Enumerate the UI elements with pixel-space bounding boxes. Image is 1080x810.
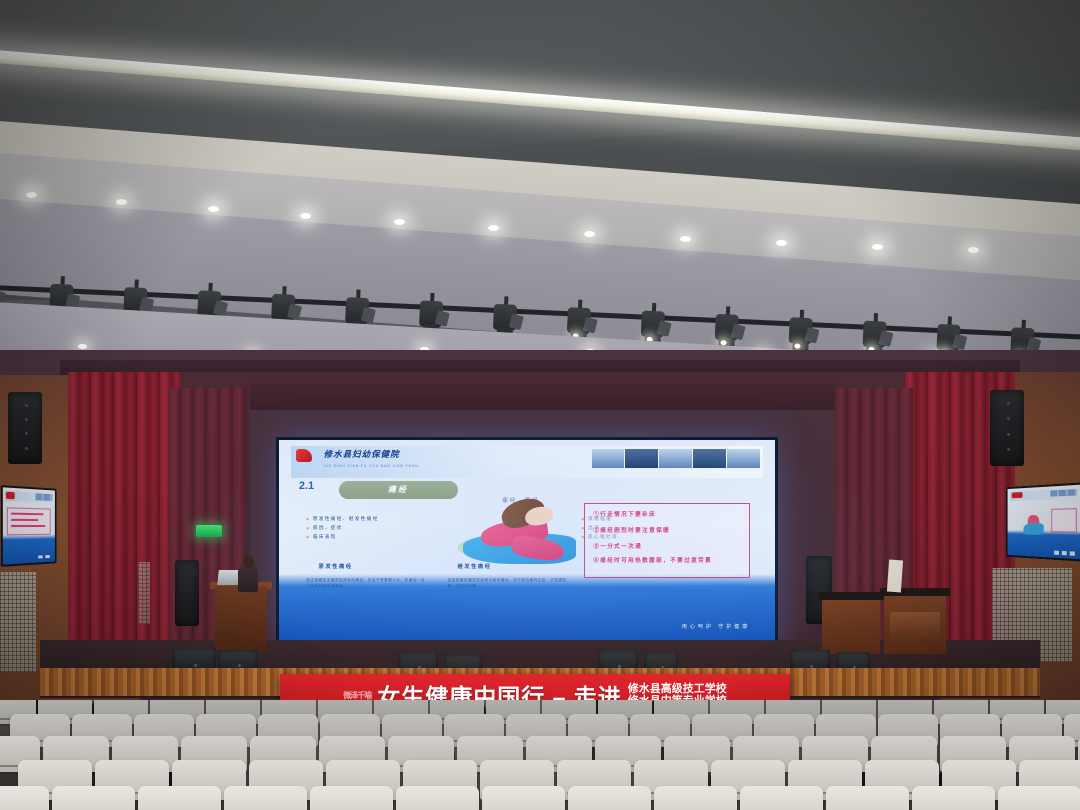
wall-speaker-right-icon — [990, 390, 1024, 466]
bullet-item: 临床表现 — [306, 533, 425, 542]
ceiling-downlight-icon — [26, 192, 37, 198]
recessed-light-icon — [78, 344, 87, 349]
slide-canvas: 修水县妇幼保健院 XIU SHUI XIAN FU YOU BAO JIAN Y… — [279, 440, 775, 649]
wooden-podium — [215, 586, 267, 652]
hospital-name-pinyin: XIU SHUI XIAN FU YOU BAO JIAN YUAN — [324, 464, 419, 468]
auditorium-seat — [998, 786, 1080, 810]
slide-sub-head-left: 原发性痛经 — [319, 563, 353, 570]
slide-left-bullets: 原发性痛经、继发性痛经 病因、症状 临床表现 — [306, 515, 425, 541]
slide-section-title-pill: 痛经 — [339, 481, 458, 499]
ceiling-downlight-icon — [776, 240, 787, 246]
ceiling-downlight-icon — [116, 199, 127, 205]
stage-valance — [160, 372, 920, 410]
auditorium-seat — [654, 786, 737, 810]
stage-console-desk-1 — [822, 598, 880, 654]
auditorium-seat — [310, 786, 393, 810]
bullet-item: 病因、症状 — [306, 524, 425, 533]
ceiling-downlight-icon — [872, 244, 883, 250]
note-line: ②痛经剧烈时要注意保暖 — [593, 526, 670, 534]
presenter-head — [243, 556, 254, 568]
slide-section-title: 痛经 — [388, 484, 408, 495]
ceiling-downlight-icon — [394, 219, 405, 225]
slide-tagline: 用心呵护 守护健康 — [682, 623, 750, 630]
bullet-item: 原发性痛经、继发性痛经 — [306, 515, 425, 524]
slide-illustration-reclining-figure — [458, 499, 587, 570]
auditorium-seat — [568, 786, 651, 810]
right-repeater-monitor — [1006, 482, 1080, 561]
left-repeater-monitor — [1, 485, 57, 567]
slide-wave-footer — [279, 582, 775, 649]
note-line: ③一分式一次通 — [593, 542, 642, 550]
slide-section-number: 2.1 — [299, 480, 314, 492]
wall-speaker-left-icon — [8, 392, 42, 464]
auditorium-seat — [396, 786, 479, 810]
presenter-body — [238, 566, 258, 592]
header-photo-strip — [592, 449, 761, 468]
slide-handwritten-note-box: ①行走情况下要卧床 ②痛经剧烈时要注意保暖 ③一分式一次通 ④痛经时可用热敷腹部… — [584, 503, 750, 578]
console-drawer-front — [890, 612, 940, 642]
auditorium-seat — [138, 786, 221, 810]
ceiling-downlight-icon — [488, 225, 499, 231]
slide-sub-head-right: 继发性痛经 — [458, 563, 492, 570]
hospital-logo-icon — [296, 449, 312, 462]
auditorium-seat — [0, 786, 49, 810]
auditorium-seat — [740, 786, 823, 810]
ceiling-downlight-icon — [968, 247, 979, 253]
acoustic-panel-stage-left — [138, 562, 150, 624]
console-paper-sheet — [887, 560, 903, 593]
stage-console-top-1 — [818, 592, 884, 600]
auditorium-seat — [482, 786, 565, 810]
ceiling-downlight-icon — [300, 213, 311, 219]
projection-screen: 修水县妇幼保健院 XIU SHUI XIAN FU YOU BAO JIAN Y… — [276, 437, 778, 652]
auditorium-seat — [52, 786, 135, 810]
ceiling-downlight-icon — [208, 206, 219, 212]
note-line: ①行走情况下要卧床 — [593, 510, 656, 518]
auditorium-seat — [224, 786, 307, 810]
note-line: ④痛经时可用热敷腹部，不要过度劳累 — [593, 558, 740, 566]
banner-school-line-1: 修水县高级技工学校 — [628, 683, 727, 695]
ceiling-downlight-icon — [680, 236, 691, 242]
ceiling-downlight-icon — [584, 231, 595, 237]
stage-speaker-left-icon — [175, 560, 199, 626]
auditorium-seat — [912, 786, 995, 810]
acoustic-panel-left — [0, 572, 36, 672]
exit-sign-icon — [196, 525, 222, 537]
hospital-name-cn: 修水县妇幼保健院 — [324, 448, 400, 460]
slide-sub-body-left: 指生殖器官无器质性病变的痛经，多见于青春期少女，初潮后一至二年内开始出现痛经。 — [306, 578, 425, 590]
auditorium-seat — [826, 786, 909, 810]
auditorium-photo: 修水县妇幼保健院 XIU SHUI XIAN FU YOU BAO JIAN Y… — [0, 0, 1080, 810]
banner-sponsor-mark: 微泽千喻 — [343, 690, 371, 701]
audience-seating — [0, 700, 1080, 810]
